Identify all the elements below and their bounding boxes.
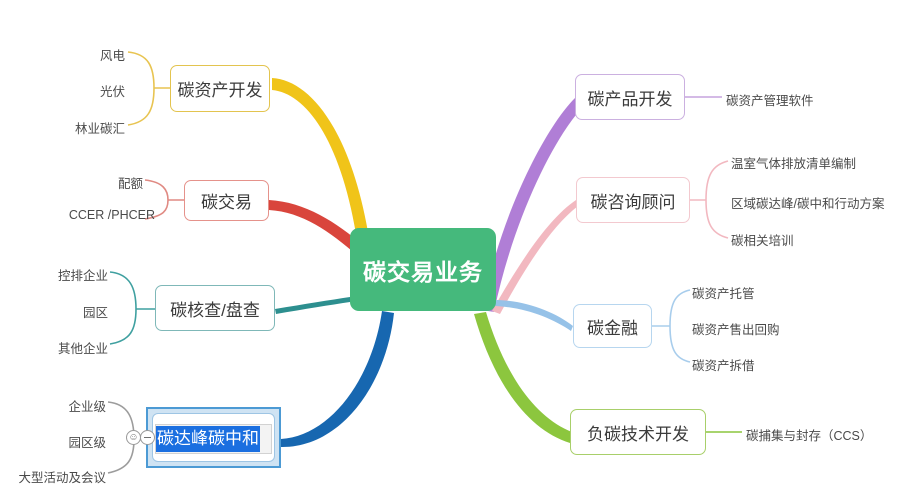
note-badge-glyph: ☺ [128, 433, 138, 443]
topic-carbon-asset-development[interactable]: 碳资产开发 [170, 65, 270, 112]
leaf-label: 控排企业 [58, 269, 108, 283]
leaf-label: 配额 [118, 177, 143, 191]
branch-carbon-consulting [492, 200, 578, 314]
topic-carbon-trading[interactable]: 碳交易 [184, 180, 269, 221]
leaf-quota[interactable]: 配额 [118, 173, 143, 192]
subbranch-carbon-asset-development [128, 52, 170, 125]
subbranch-carbon-verification [110, 272, 155, 344]
leaf-carbon-related-training[interactable]: 碳相关培训 [731, 230, 794, 249]
leaf-label: 碳资产售出回购 [692, 323, 780, 337]
leaf-label: 风电 [100, 49, 125, 63]
leaf-controlled-emission-enterprise[interactable]: 控排企业 [58, 265, 108, 284]
leaf-label: 碳资产管理软件 [726, 94, 814, 108]
branch-carbon-finance [494, 300, 573, 331]
topic-carbon-product-development[interactable]: 碳产品开发 [575, 74, 685, 120]
mindmap-canvas: 碳交易业务 碳资产开发 碳交易 碳核查/盘查 碳达峰碳中和 ☺ 碳产品开发 碳咨… [0, 0, 900, 489]
leaf-label: 园区级 [68, 436, 106, 450]
leaf-label: CCER /PHCER [69, 208, 155, 222]
leaf-label: 区域碳达峰/碳中和行动方案 [731, 197, 884, 211]
leaf-other-enterprise[interactable]: 其他企业 [58, 338, 108, 357]
note-badge-icon[interactable]: ☺ [126, 430, 141, 445]
leaf-ghg-emission-inventory[interactable]: 温室气体排放清单编制 [731, 153, 856, 172]
central-topic-label: 碳交易业务 [363, 253, 483, 287]
leaf-label: 园区 [83, 306, 108, 320]
leaf-label: 碳资产拆借 [692, 359, 755, 373]
branch-carbon-product-development [482, 98, 581, 312]
subbranch-carbon-consulting [690, 161, 728, 238]
collapse-badge-icon[interactable] [140, 430, 155, 445]
leaf-forestry-carbon-sink[interactable]: 林业碳汇 [75, 118, 125, 137]
topic-label: 碳交易 [201, 188, 252, 213]
leaf-ccs[interactable]: 碳捕集与封存（CCS） [746, 425, 872, 444]
leaf-regional-peak-neutrality-plan[interactable]: 区域碳达峰/碳中和行动方案 [731, 193, 884, 212]
leaf-industrial-park[interactable]: 园区 [83, 302, 108, 321]
leaf-label: 企业级 [68, 400, 106, 414]
leaf-carbon-asset-custody[interactable]: 碳资产托管 [692, 283, 755, 302]
topic-label: 碳金融 [587, 314, 638, 339]
topic-negative-carbon-tech[interactable]: 负碳技术开发 [570, 409, 706, 455]
leaf-label: 其他企业 [58, 342, 108, 356]
subbranch-carbon-finance [652, 290, 690, 362]
branch-carbon-asset-development [272, 78, 368, 234]
central-topic[interactable]: 碳交易业务 [350, 228, 496, 311]
topic-carbon-finance[interactable]: 碳金融 [573, 304, 652, 348]
leaf-label: 碳资产托管 [692, 287, 755, 301]
branch-negative-carbon-tech [474, 312, 572, 443]
leaf-label: 光伏 [100, 85, 125, 99]
leaf-label: 碳捕集与封存（CCS） [746, 429, 872, 443]
topic-label: 碳产品开发 [588, 85, 673, 110]
leaf-label: 温室气体排放清单编制 [731, 157, 856, 171]
leaf-label: 林业碳汇 [75, 122, 125, 136]
leaf-ccer-phcer[interactable]: CCER /PHCER [69, 208, 155, 222]
topic-label: 负碳技术开发 [587, 420, 689, 445]
branch-carbon-verification [275, 297, 350, 314]
leaf-wind-power[interactable]: 风电 [100, 45, 125, 64]
minus-glyph [144, 437, 151, 438]
topic-label: 碳核查/盘查 [170, 296, 260, 321]
leaf-label: 碳相关培训 [731, 234, 794, 248]
topic-label: 碳咨询顾问 [591, 188, 676, 213]
leaf-large-events-conferences[interactable]: 大型活动及会议 [18, 467, 106, 486]
selected-text: 碳达峰碳中和 [156, 426, 260, 452]
topic-carbon-verification[interactable]: 碳核查/盘查 [155, 285, 275, 331]
branch-carbon-peak-neutrality [281, 311, 394, 447]
topic-label: 碳资产开发 [178, 76, 263, 101]
topic-title-input[interactable]: 碳达峰碳中和 [155, 424, 272, 454]
leaf-carbon-asset-management-software[interactable]: 碳资产管理软件 [726, 90, 814, 109]
leaf-enterprise-level[interactable]: 企业级 [68, 396, 106, 415]
topic-carbon-consulting[interactable]: 碳咨询顾问 [576, 177, 690, 223]
leaf-label: 大型活动及会议 [18, 471, 106, 485]
leaf-carbon-asset-repurchase[interactable]: 碳资产售出回购 [692, 319, 780, 338]
leaf-carbon-asset-lending[interactable]: 碳资产拆借 [692, 355, 755, 374]
leaf-photovoltaic[interactable]: 光伏 [100, 81, 125, 100]
topic-carbon-peak-neutrality[interactable]: 碳达峰碳中和 [146, 407, 281, 468]
leaf-park-level[interactable]: 园区级 [68, 432, 106, 451]
